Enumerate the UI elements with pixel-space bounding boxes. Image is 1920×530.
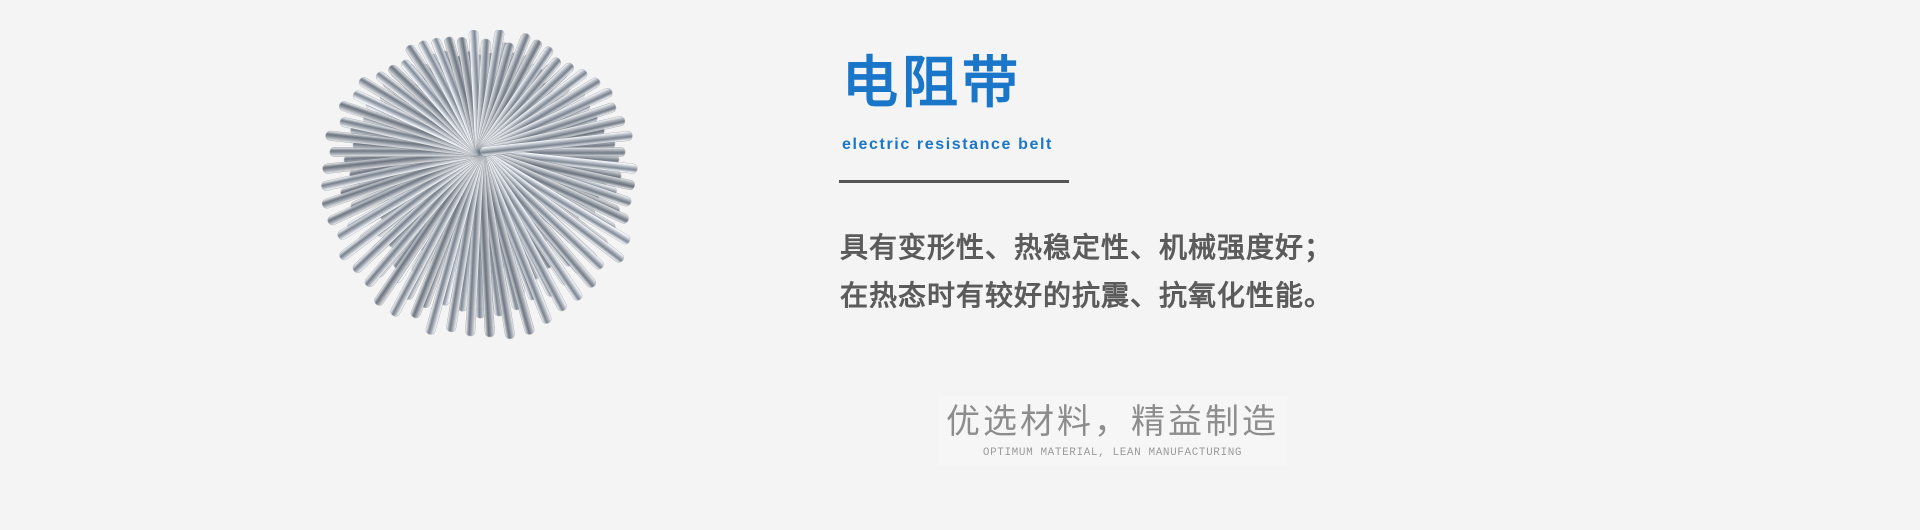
text-column: 电阻带 electric resistance belt 具有变形性、热稳定性、… [838, 0, 1898, 530]
watermark-english: OPTIMUM MATERIAL, LEAN MANUFACTURING [946, 446, 1279, 460]
product-image-stage [300, 30, 660, 420]
brand-watermark: 优选材料，精益制造 OPTIMUM MATERIAL, LEAN MANUFAC… [938, 396, 1287, 466]
product-description: 具有变形性、热稳定性、机械强度好； 在热态时有较好的抗震、抗氧化性能。 [840, 224, 1480, 320]
product-image [300, 30, 660, 420]
description-line-1: 具有变形性、热稳定性、机械强度好； [840, 224, 1480, 272]
product-banner: 电阻带 electric resistance belt 具有变形性、热稳定性、… [0, 0, 1920, 530]
watermark-chinese: 优选材料，精益制造 [946, 400, 1279, 444]
page-title: 电阻带 [842, 55, 1022, 111]
page-subtitle: electric resistance belt [842, 137, 1053, 153]
title-divider [839, 180, 1069, 183]
description-line-2: 在热态时有较好的抗震、抗氧化性能。 [840, 272, 1480, 320]
